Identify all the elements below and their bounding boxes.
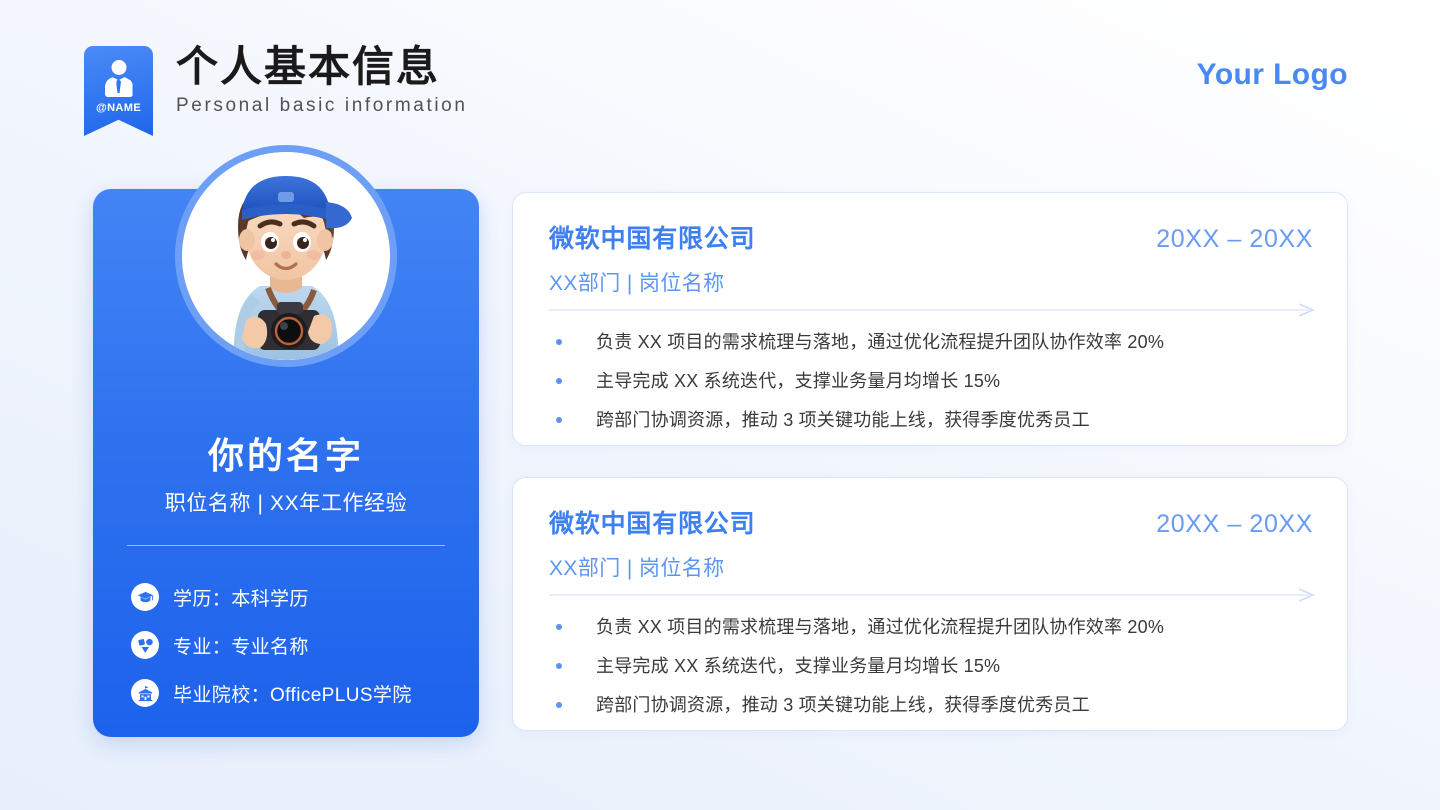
company-name: 微软中国有限公司 [549,219,755,255]
arrow-right-icon [549,588,1315,602]
arrow-divider [549,588,1315,602]
arrow-divider [549,303,1315,317]
profile-fact-label: 学历：本科学历 [173,584,309,611]
avatar-illustration [182,152,390,360]
achievement-text: 跨部门协调资源，推动 3 项关键功能上线，获得季度优秀员工 [596,406,1090,435]
list-item: 主导完成 XX 系统迭代，支撑业务量月均增长 15% [549,647,1319,686]
company-name: 微软中国有限公司 [549,504,755,540]
department-and-role: XX部门 | 岗位名称 [549,267,725,297]
your-logo-text: Your Logo [1197,58,1348,92]
graduation-cap-icon [131,583,159,611]
achievement-text: 主导完成 XX 系统迭代，支撑业务量月均增长 15% [596,652,1000,681]
person-silhouette-icon [102,60,136,98]
page-title: 个人基本信息 [176,44,468,89]
title-block: 个人基本信息 Personal basic information [176,44,468,117]
list-item: 跨部门协调资源，推动 3 项关键功能上线，获得季度优秀员工 [549,401,1319,440]
list-item: 主导完成 XX 系统迭代，支撑业务量月均增长 15% [549,362,1319,401]
arrow-right-icon [549,303,1315,317]
profile-name: 你的名字 [93,427,479,479]
slide-canvas: @NAME 个人基本信息 Personal basic information … [0,0,1440,810]
list-item: 学历：本科学历 [131,573,459,621]
experience-card: 微软中国有限公司 20XX – 20XX XX部门 | 岗位名称 负责 XX 项… [512,192,1348,446]
achievement-text: 负责 XX 项目的需求梳理与落地，通过优化流程提升团队协作效率 20% [596,328,1164,357]
achievement-list: 负责 XX 项目的需求梳理与落地，通过优化流程提升团队协作效率 20% 主导完成… [549,323,1319,440]
employment-dates: 20XX – 20XX [1156,510,1313,539]
achievement-text: 主导完成 XX 系统迭代，支撑业务量月均增长 15% [596,367,1000,396]
achievement-list: 负责 XX 项目的需求梳理与落地，通过优化流程提升团队协作效率 20% 主导完成… [549,608,1319,725]
profile-card: 你的名字 职位名称 | XX年工作经验 学历：本科学历 [93,189,479,737]
page-subtitle: Personal basic information [176,95,468,117]
brand-tag-label: @NAME [84,102,153,114]
bullet-dot-icon [556,417,562,423]
profile-facts-list: 学历：本科学历 专业：专业名称 [131,573,459,717]
list-item: 负责 XX 项目的需求梳理与落地，通过优化流程提升团队协作效率 20% [549,323,1319,362]
bullet-dot-icon [556,339,562,345]
bullet-dot-icon [556,663,562,669]
shapes-major-icon [131,631,159,659]
experience-card: 微软中国有限公司 20XX – 20XX XX部门 | 岗位名称 负责 XX 项… [512,477,1348,731]
achievement-text: 跨部门协调资源，推动 3 项关键功能上线，获得季度优秀员工 [596,691,1090,720]
list-item: 毕业院校：OfficePLUS学院 [131,669,459,717]
experience-card-header: 微软中国有限公司 20XX – 20XX [549,219,1313,255]
slide-header: @NAME 个人基本信息 Personal basic information … [0,0,1440,140]
profile-fact-label: 专业：专业名称 [173,632,309,659]
bullet-dot-icon [556,702,562,708]
list-item: 负责 XX 项目的需求梳理与落地，通过优化流程提升团队协作效率 20% [549,608,1319,647]
bullet-dot-icon [556,378,562,384]
profile-divider [127,545,445,546]
department-and-role: XX部门 | 岗位名称 [549,552,725,582]
person-head-shape [111,60,126,75]
list-item: 专业：专业名称 [131,621,459,669]
experience-card-header: 微软中国有限公司 20XX – 20XX [549,504,1313,540]
avatar [175,145,397,367]
person-badge-icon: @NAME [84,46,153,136]
school-building-icon [131,679,159,707]
achievement-text: 负责 XX 项目的需求梳理与落地，通过优化流程提升团队协作效率 20% [596,613,1164,642]
profile-role: 职位名称 | XX年工作经验 [93,487,479,517]
profile-fact-label: 毕业院校：OfficePLUS学院 [173,680,412,707]
bullet-dot-icon [556,624,562,630]
list-item: 跨部门协调资源，推动 3 项关键功能上线，获得季度优秀员工 [549,686,1319,725]
employment-dates: 20XX – 20XX [1156,225,1313,254]
